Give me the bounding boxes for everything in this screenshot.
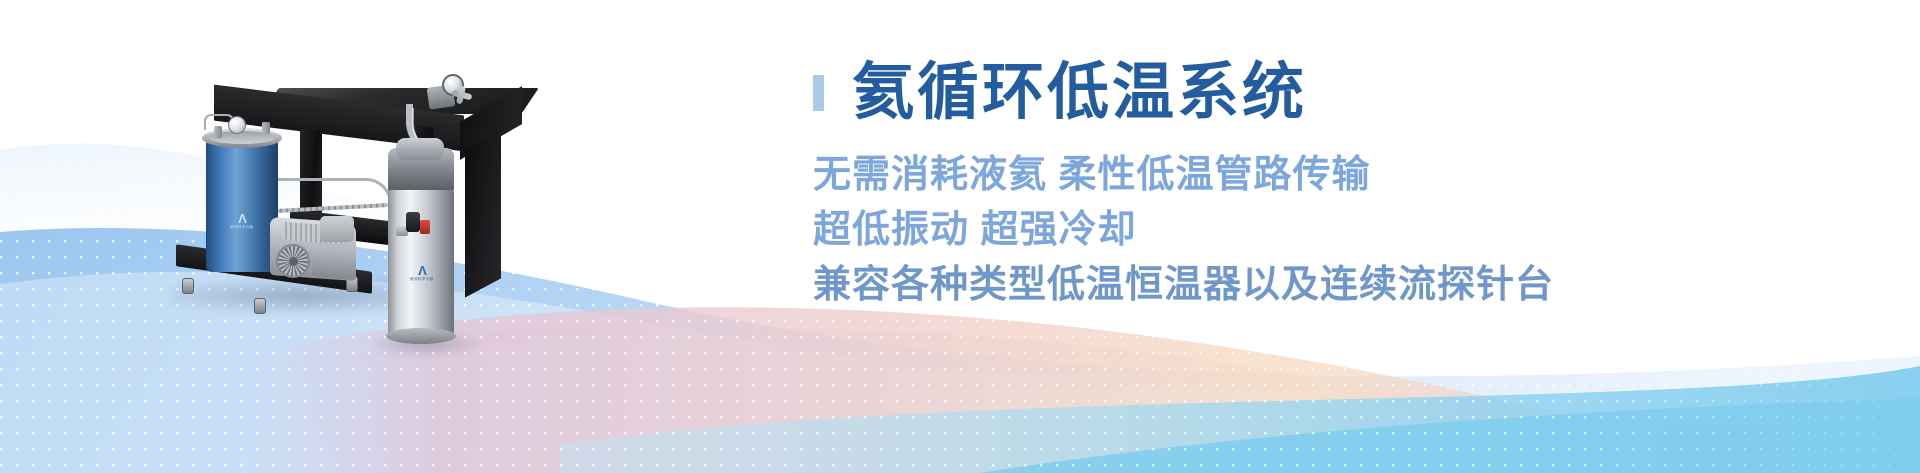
subtitle-line-1: 无需消耗液氦 柔性低温管路传输 [813,148,1873,203]
title-accent-bar [813,75,824,111]
pressure-gauge-icon [228,116,246,134]
promo-banner: Λ 致领科学仪器 Λ 致领科学仪器 氦循环低温系统 无需消耗液氦 柔性低温管路传… [0,0,1920,473]
silver-dewar-base [386,328,456,344]
subtitle-list: 无需消耗液氦 柔性低温管路传输 超低振动 超强冷却 兼容各种类型低温恒温器以及连… [813,148,1873,313]
title-row: 氦循环低温系统 [813,62,1873,124]
vacuum-pump-housing [312,244,356,279]
valve-red [420,220,430,234]
blue-dewar-port [214,126,222,138]
vacuum-pump-fan-icon [276,244,310,278]
valve-black [406,212,420,232]
cart-wheel [254,298,266,314]
logo-mark: Λ [418,264,426,277]
table-leg-front-right [465,130,501,297]
subtitle-line-3: 兼容各种类型低温恒温器以及连续流探针台 [813,258,1873,313]
blue-dewar-body [206,140,278,272]
logo-wordmark: 致领科学仪器 [230,225,253,229]
brand-logo-silver-tank: Λ 致领科学仪器 [398,262,446,282]
subtitle-line-2: 超低振动 超强冷却 [813,203,1873,258]
cart-wheel [182,278,194,294]
page-title: 氦循环低温系统 [852,62,1307,124]
logo-mark: Λ [238,212,246,225]
brand-logo-blue-tank: Λ 致领科学仪器 [218,210,266,230]
vacuum-pump-motor [320,216,354,242]
logo-wordmark: 致领科学仪器 [410,277,433,281]
compressor-head-top [396,138,444,160]
blue-dewar-port [262,122,270,134]
banner-copy: 氦循环低温系统 无需消耗液氦 柔性低温管路传输 超低振动 超强冷却 兼容各种类型… [813,62,1873,313]
product-image: Λ 致领科学仪器 Λ 致领科学仪器 [170,30,590,360]
